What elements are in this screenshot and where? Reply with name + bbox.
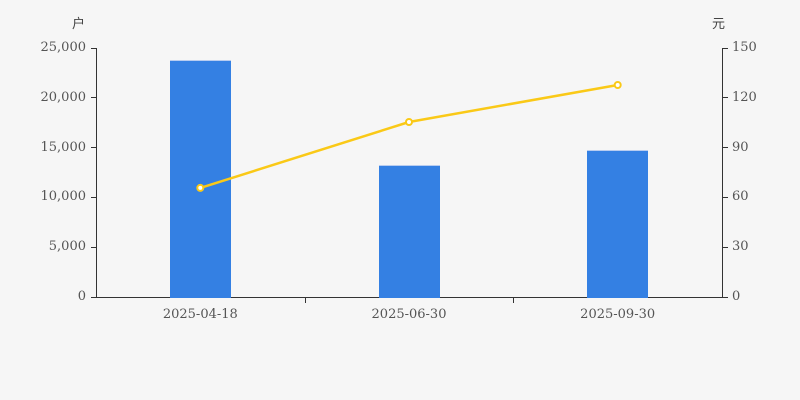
right-axis-tick-mark [723,297,728,298]
x-axis-tick-mark [513,298,514,303]
x-axis-category-label: 2025-04-18 [163,308,238,321]
right-axis-tick-label: 120 [732,91,757,104]
left-axis-tick-mark [91,297,96,298]
left-axis-tick-mark [91,197,96,198]
right-axis-tick-mark [723,97,728,98]
right-axis-tick-mark [723,48,728,49]
left-axis-tick-label: 25,000 [41,41,87,54]
line-marker-2025-09-30[interactable] [615,82,621,88]
right-axis-unit-label: 元 [712,18,725,31]
x-axis-category-label: 2025-06-30 [372,308,447,321]
left-axis-tick-label: 0 [78,290,86,303]
left-axis-tick-mark [91,247,96,248]
right-axis-tick-label: 150 [732,41,757,54]
right-axis-tick-mark [723,247,728,248]
left-axis-tick-label: 10,000 [41,190,87,203]
left-axis-tick-label: 20,000 [41,91,87,104]
right-axis-tick-label: 0 [732,290,740,303]
left-axis-tick-mark [91,97,96,98]
left-axis-line [96,48,97,298]
left-axis-tick-label: 5,000 [49,240,86,253]
right-axis-tick-label: 60 [732,190,749,203]
bar-2025-04-18[interactable] [170,60,231,298]
line-marker-2025-06-30[interactable] [406,119,412,125]
bar-2025-09-30[interactable] [587,150,648,298]
right-axis-line [722,48,723,298]
chart-canvas: 户 元 05,00010,00015,00020,00025,000 03060… [0,0,800,400]
left-axis-unit-label: 户 [72,18,85,31]
right-axis-tick-mark [723,197,728,198]
x-axis-tick-mark [305,298,306,303]
left-axis-tick-label: 15,000 [41,141,87,154]
bar-2025-06-30[interactable] [379,165,440,298]
left-axis-tick-mark [91,147,96,148]
right-axis-tick-mark [723,147,728,148]
left-axis-tick-mark [91,48,96,49]
right-axis-tick-label: 90 [732,141,749,154]
right-axis-tick-label: 30 [732,240,749,253]
x-axis-category-label: 2025-09-30 [580,308,655,321]
